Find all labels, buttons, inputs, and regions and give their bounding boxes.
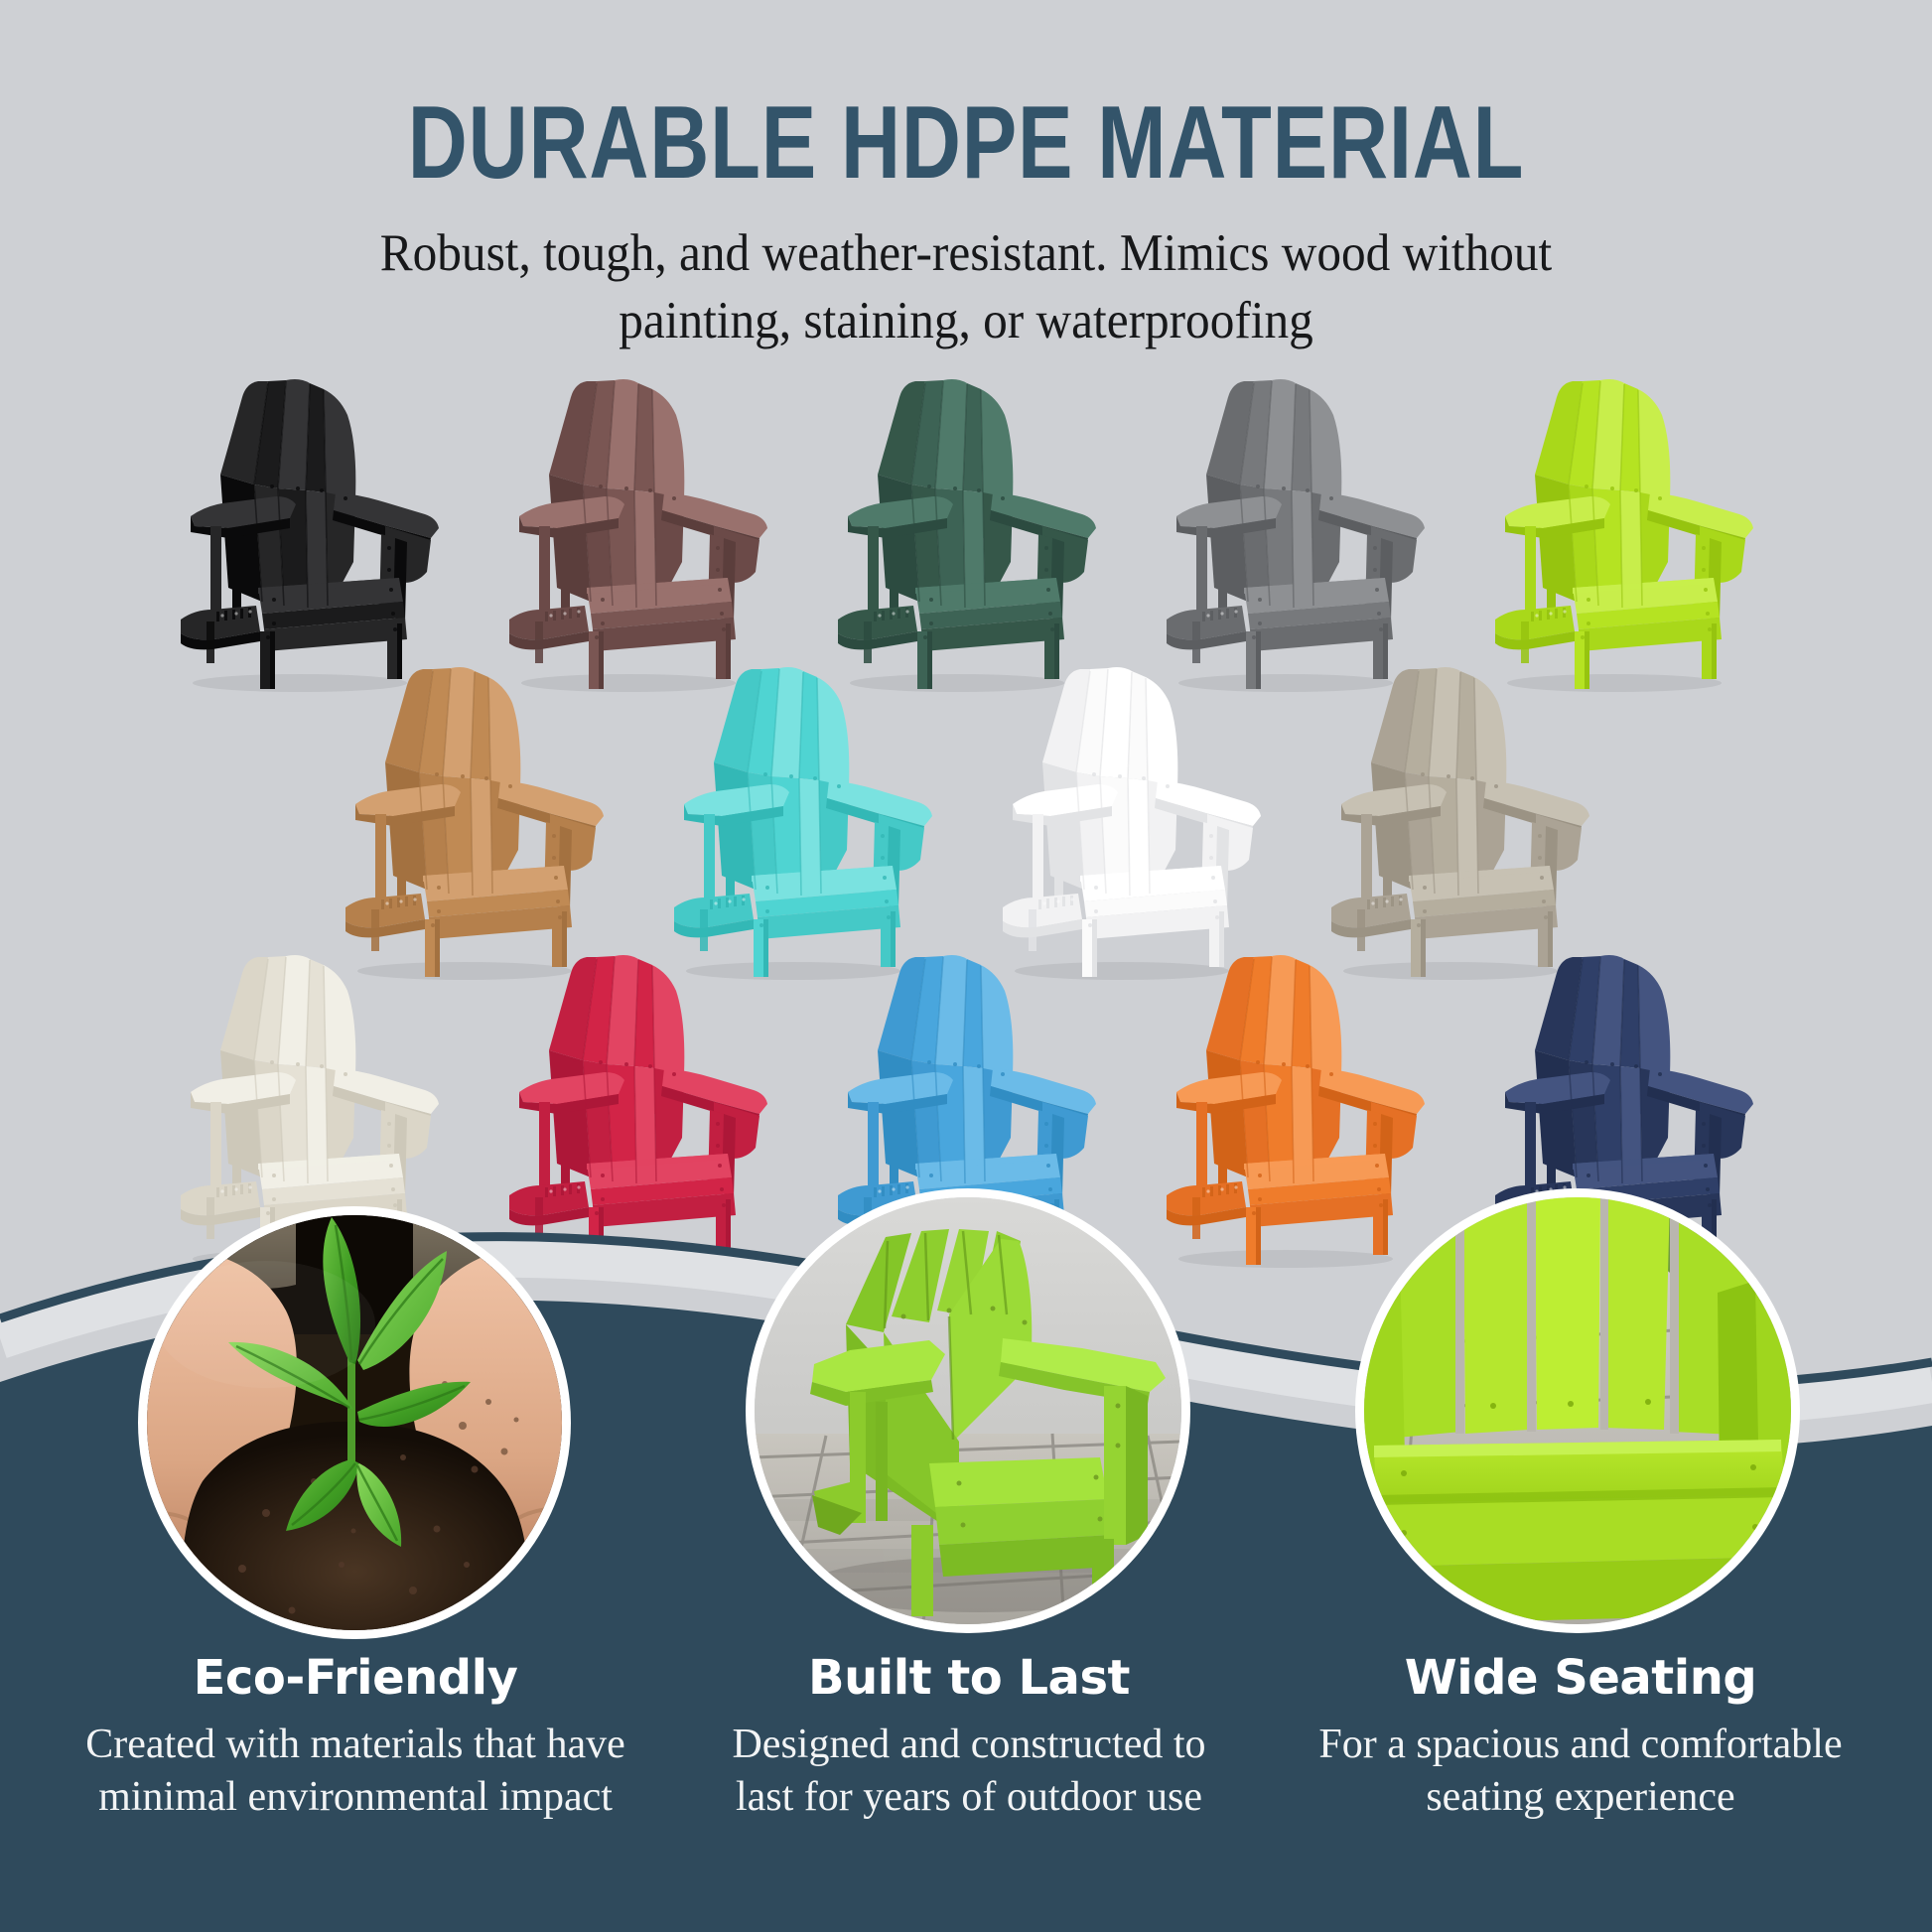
feature-body-line-2: seating experience (1426, 1774, 1734, 1820)
subtitle-line-2: painting, staining, or waterproofing (356, 288, 1576, 355)
feature-body: Designed and constructed to last for yea… (631, 1719, 1307, 1824)
feature-heading: Wide Seating (1243, 1652, 1918, 1705)
feature-body: For a spacious and comfortable seating e… (1243, 1719, 1918, 1824)
feature-body-line-2: last for years of outdoor use (736, 1774, 1202, 1820)
chair-swatch-taupe[interactable] (1302, 655, 1599, 983)
feature-body-line-1: Created with materials that have (85, 1722, 624, 1767)
chair-swatch-red[interactable] (480, 943, 777, 1271)
feature-eco-friendly: Eco-Friendly Created with materials that… (18, 1652, 693, 1824)
feature-heading: Built to Last (631, 1652, 1307, 1705)
page-subtitle: Robust, tough, and weather-resistant. Mi… (356, 195, 1576, 355)
chair-swatch-brown[interactable] (480, 367, 777, 695)
chair-swatch-dark-green[interactable] (808, 367, 1106, 695)
feature-body-line-1: Designed and constructed to (732, 1722, 1205, 1767)
chair-swatch-turquoise[interactable] (644, 655, 942, 983)
hands-holding-seedling-photo (147, 1215, 562, 1630)
lime-chair-on-patio-photo (755, 1197, 1181, 1624)
page-title: DURABLE HDPE MATERIAL (194, 0, 1739, 195)
feature-built-to-last: Built to Last Designed and constructed t… (631, 1652, 1307, 1824)
chair-swatch-orange[interactable] (1137, 943, 1435, 1271)
infographic-canvas: DURABLE HDPE MATERIAL Robust, tough, and… (0, 0, 1932, 1932)
feature-body: Created with materials that have minimal… (18, 1719, 693, 1824)
chair-swatch-lime[interactable] (1465, 367, 1763, 695)
feature-body-line-1: For a spacious and comfortable (1318, 1722, 1842, 1767)
chair-swatch-white[interactable] (973, 655, 1271, 983)
feature-body-line-2: minimal environmental impact (98, 1774, 613, 1820)
feature-wide-seating: Wide Seating For a spacious and comforta… (1243, 1652, 1918, 1824)
lime-chair-wide-seat-closeup-photo (1364, 1197, 1791, 1624)
feature-heading: Eco-Friendly (18, 1652, 693, 1705)
chair-swatch-teak[interactable] (316, 655, 614, 983)
header: DURABLE HDPE MATERIAL Robust, tough, and… (0, 0, 1932, 355)
subtitle-line-1: Robust, tough, and weather-resistant. Mi… (356, 220, 1576, 288)
chair-swatch-black[interactable] (151, 367, 449, 695)
chair-swatch-gray[interactable] (1137, 367, 1435, 695)
